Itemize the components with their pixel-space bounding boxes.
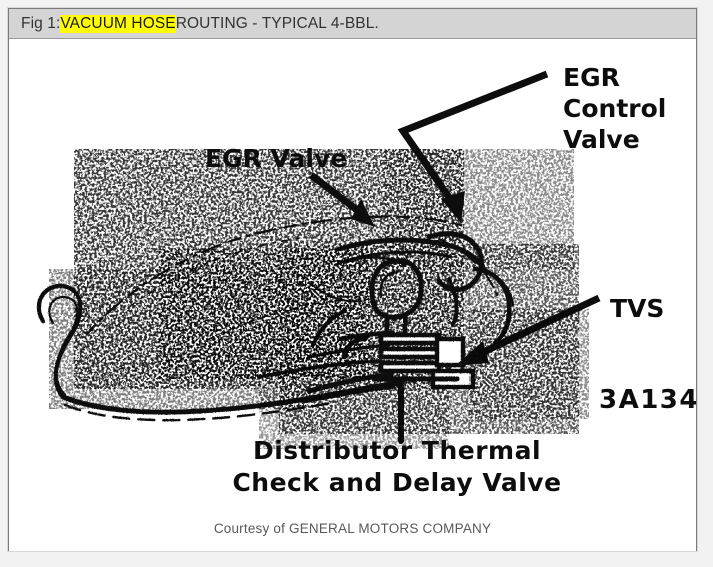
label-part-number: 3A134	[599, 385, 696, 415]
figure-frame: Fig 1: VACUUM HOSE ROUTING - TYPICAL 4-B…	[8, 8, 697, 551]
figure-image-area: EGR Valve EGR Control Valve TVS 3A134 Di…	[9, 39, 696, 551]
caption-suffix: ROUTING - TYPICAL 4-BBL.	[176, 15, 379, 33]
label-egr-valve: EGR Valve	[205, 144, 347, 173]
courtesy-credit: Courtesy of GENERAL MOTORS COMPANY	[9, 521, 696, 536]
figure-caption-bar: Fig 1: VACUUM HOSE ROUTING - TYPICAL 4-B…	[9, 9, 696, 39]
label-tvs: TVS	[610, 294, 664, 323]
vacuum-hose-routing-diagram: EGR Valve EGR Control Valve TVS 3A134 Di…	[9, 39, 696, 551]
label-distributor-valve-line1: Distributor Thermal	[253, 436, 541, 465]
caption-highlight-term: VACUUM HOSE	[60, 15, 175, 33]
label-egr-control-valve-line2: Control	[563, 94, 666, 123]
label-egr-control-valve-line3: Valve	[563, 125, 640, 154]
caption-prefix: Fig 1:	[21, 15, 60, 33]
label-egr-control-valve-line1: EGR	[563, 63, 620, 92]
label-distributor-valve-line2: Check and Delay Valve	[232, 468, 561, 497]
